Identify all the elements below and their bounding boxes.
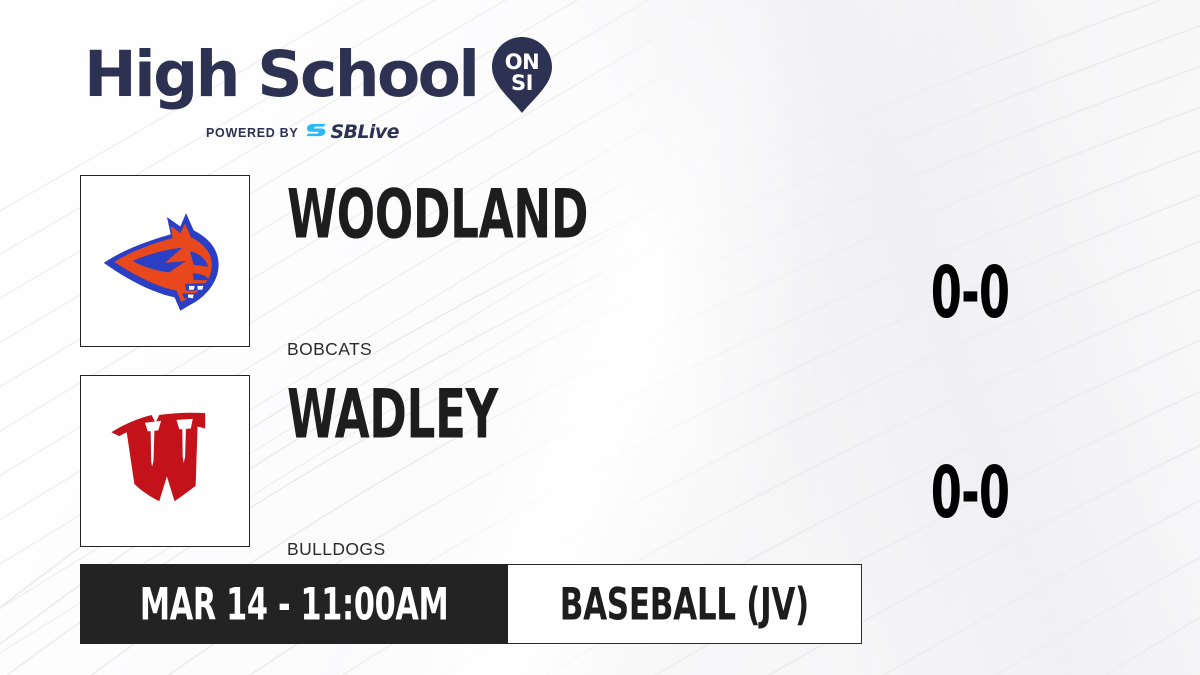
team-mascot-away: BULLDOGS	[287, 539, 386, 560]
brand-masthead: High School ON SI POWERED BY SBLive	[84, 34, 553, 142]
game-info-bar: MAR 14 - 11:00AM BASEBALL (JV)	[80, 564, 862, 644]
brand-title: High School	[84, 43, 477, 106]
team-name-block-home: WOODLAND	[287, 181, 927, 235]
team-name-away: WADLEY	[287, 381, 825, 449]
sblive-word-bold: SBL	[330, 121, 368, 143]
team-record-home: 0-0	[890, 258, 1050, 330]
sblive-bolt-icon	[306, 123, 327, 142]
game-sport-text: BASEBALL (JV)	[560, 582, 809, 626]
powered-by-row: POWERED BY SBLive	[206, 123, 553, 142]
powered-by-label: POWERED BY	[206, 126, 298, 140]
team-name-block-away: WADLEY	[287, 381, 927, 435]
bobcat-head-icon	[98, 194, 232, 328]
pin-badge-line2: SI	[511, 71, 533, 95]
brand-row: High School ON SI	[84, 34, 553, 114]
game-datetime-chip: MAR 14 - 11:00AM	[80, 564, 508, 644]
game-datetime-text: MAR 14 - 11:00AM	[140, 582, 449, 626]
team-name-home: WOODLAND	[287, 181, 825, 249]
matchup-graphic: High School ON SI POWERED BY SBLive	[0, 0, 1200, 675]
sblive-wordmark: SBLive	[330, 123, 398, 142]
sblive-logo: SBLive	[306, 123, 398, 142]
team-logo-box-away	[80, 375, 250, 547]
game-sport-chip: BASEBALL (JV)	[508, 564, 862, 644]
sblive-word-light: ive	[369, 121, 399, 143]
team-record-away: 0-0	[890, 458, 1050, 530]
on-si-pin-icon: ON SI	[491, 36, 553, 114]
team-logo-box-home	[80, 175, 250, 347]
letter-w-icon	[98, 394, 232, 528]
team-mascot-home: BOBCATS	[287, 339, 372, 360]
